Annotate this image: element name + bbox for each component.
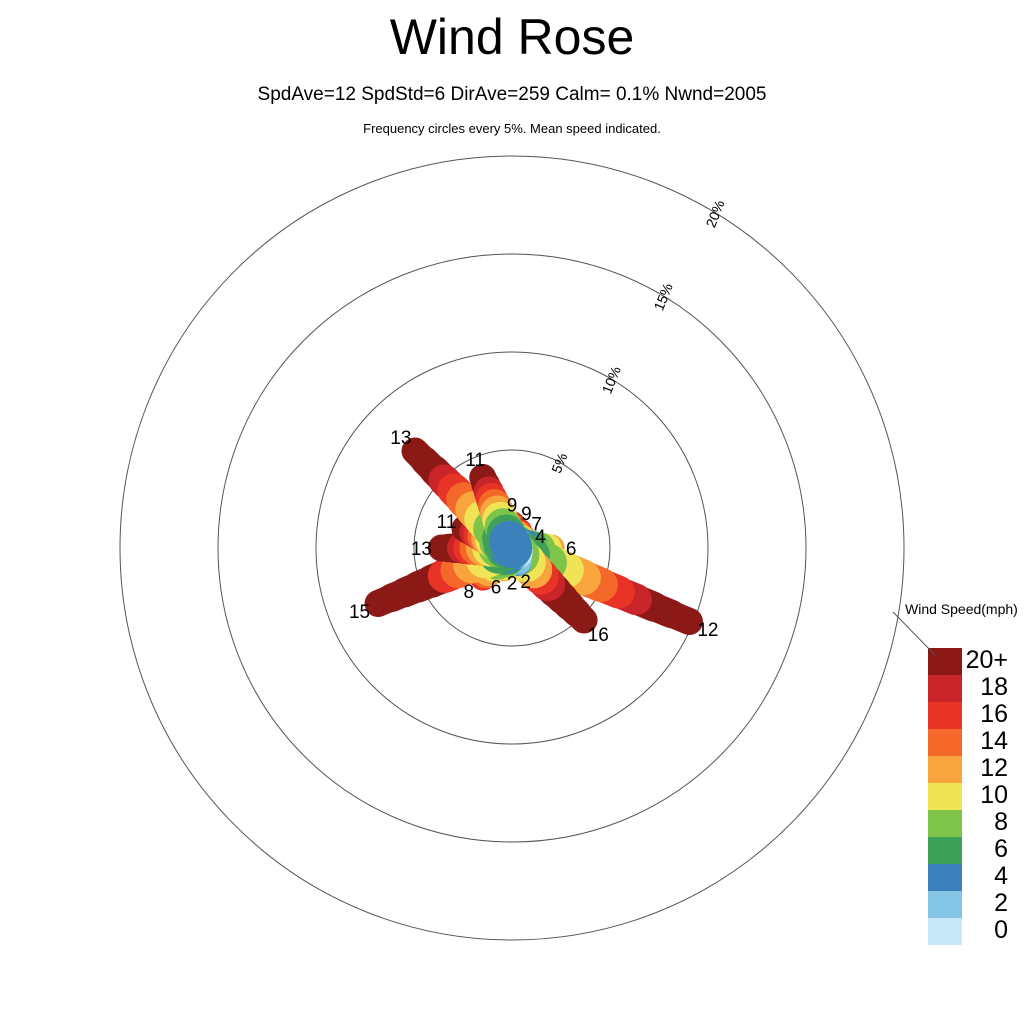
speed-legend: 20+181614121086420 — [928, 646, 1008, 945]
legend-swatch — [928, 729, 962, 756]
wind-petals — [378, 451, 689, 622]
petal-speed-label: 9 — [507, 495, 518, 516]
petal-speed-label: 9 — [521, 504, 532, 525]
ring-labels: 5%10%15%20% — [548, 198, 728, 476]
legend-label: 12 — [980, 754, 1008, 782]
petal-speed-label: 2 — [520, 572, 531, 593]
petal-speed-label: 2 — [507, 574, 518, 595]
legend-label: 20+ — [966, 646, 1008, 674]
wind-rose-svg: 5%10%15%20% 99746121622681513111311 20+1… — [0, 0, 1024, 1024]
petal-speed-label: 16 — [588, 625, 609, 646]
legend-swatch — [928, 891, 962, 918]
petal-speed-label: 6 — [566, 539, 577, 560]
legend-swatch — [928, 864, 962, 891]
petal-speed-label: 6 — [491, 577, 502, 598]
legend-swatch — [928, 810, 962, 837]
legend-label: 14 — [980, 727, 1008, 755]
petal-speed-label: 13 — [390, 428, 411, 449]
ring-label: 20% — [702, 198, 727, 230]
petal-speed-label: 12 — [697, 620, 718, 641]
legend-swatch — [928, 837, 962, 864]
ring-label: 15% — [650, 281, 675, 313]
legend-label: 6 — [994, 835, 1008, 863]
legend-swatch — [928, 918, 962, 945]
legend-label: 10 — [980, 781, 1008, 809]
ring-label: 5% — [548, 451, 570, 476]
petal-speed-label: 11 — [437, 512, 457, 533]
legend-label: 4 — [994, 862, 1008, 890]
legend-label: 8 — [994, 808, 1008, 836]
legend-swatch — [928, 756, 962, 783]
petal-speed-label: 11 — [465, 450, 485, 471]
legend-swatch — [928, 675, 962, 702]
petal-speed-label: 4 — [535, 527, 546, 548]
petal-speed-segment — [509, 541, 512, 548]
legend-label: 16 — [980, 700, 1008, 728]
legend-swatch — [928, 648, 962, 675]
legend-label: 18 — [980, 673, 1008, 701]
petal-speed-label: 15 — [349, 602, 370, 623]
petal-speed-label: 13 — [411, 539, 432, 560]
legend-label: 0 — [994, 916, 1008, 944]
ring-label: 10% — [599, 364, 624, 396]
legend-swatch — [928, 783, 962, 810]
legend-label: 2 — [994, 889, 1008, 917]
petal-speed-label: 8 — [463, 582, 474, 603]
legend-swatch — [928, 702, 962, 729]
legend-leader-line — [893, 612, 935, 655]
wind-rose-figure: Wind Rose SpdAve=12 SpdStd=6 DirAve=259 … — [0, 0, 1024, 1024]
